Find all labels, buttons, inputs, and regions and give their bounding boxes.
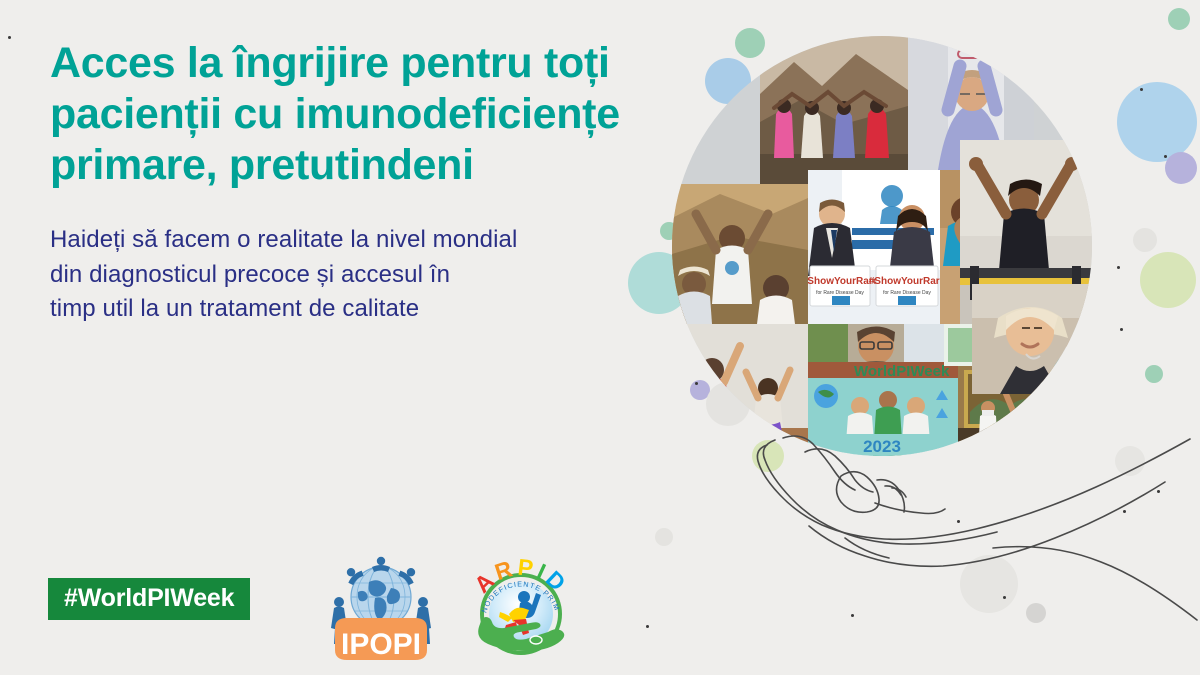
decorative-bubble <box>1140 252 1196 308</box>
decorative-bubble <box>1145 365 1163 383</box>
page-subtitle: Haideți să facem o realitate la nivel mo… <box>50 223 710 325</box>
page-title: Acces la îngrijire pentru toți pacienții… <box>50 38 710 191</box>
decorative-dot <box>1140 88 1143 91</box>
svg-text:for Rare Disease Day: for Rare Disease Day <box>816 290 864 296</box>
decorative-bubble <box>1117 82 1197 162</box>
decorative-dot <box>1164 155 1167 158</box>
banner-canvas: Acces la îngrijire pentru toți pacienții… <box>0 0 1200 675</box>
decorative-dot <box>1120 328 1123 331</box>
text-column: Acces la îngrijire pentru toți pacienții… <box>50 38 710 326</box>
decorative-bubble <box>1165 152 1197 184</box>
hashtag-badge[interactable]: #WorldPIWeek <box>48 578 250 620</box>
photo-collage: #ShowYourRare for Rare Disease Day #Show… <box>672 36 1092 456</box>
decorative-bubble <box>655 528 673 546</box>
collage-photo <box>760 36 908 184</box>
decorative-bubble <box>1133 228 1157 252</box>
decorative-dot <box>646 625 649 628</box>
svg-text:WorldPIWeek: WorldPIWeek <box>854 363 950 380</box>
svg-text:#ShowYourRare: #ShowYourRare <box>869 276 940 287</box>
arpid-logo[interactable]: ARPID IMUNODEFICIENTE PRIMARE <box>462 552 580 664</box>
decorative-bubble <box>1168 8 1190 30</box>
collage-photo: #ShowYourRare for Rare Disease Day #Show… <box>808 170 940 324</box>
collage-photo <box>972 284 1092 394</box>
collage-photo <box>672 184 808 324</box>
ipopi-wordmark: IPOPI <box>341 628 421 661</box>
ipopi-logo[interactable]: IPOPI <box>325 550 437 662</box>
decorative-dot <box>1117 266 1120 269</box>
open-hand-line-art <box>745 430 1200 675</box>
svg-text:for Rare Disease Day: for Rare Disease Day <box>883 290 931 296</box>
decorative-dot <box>8 36 11 39</box>
